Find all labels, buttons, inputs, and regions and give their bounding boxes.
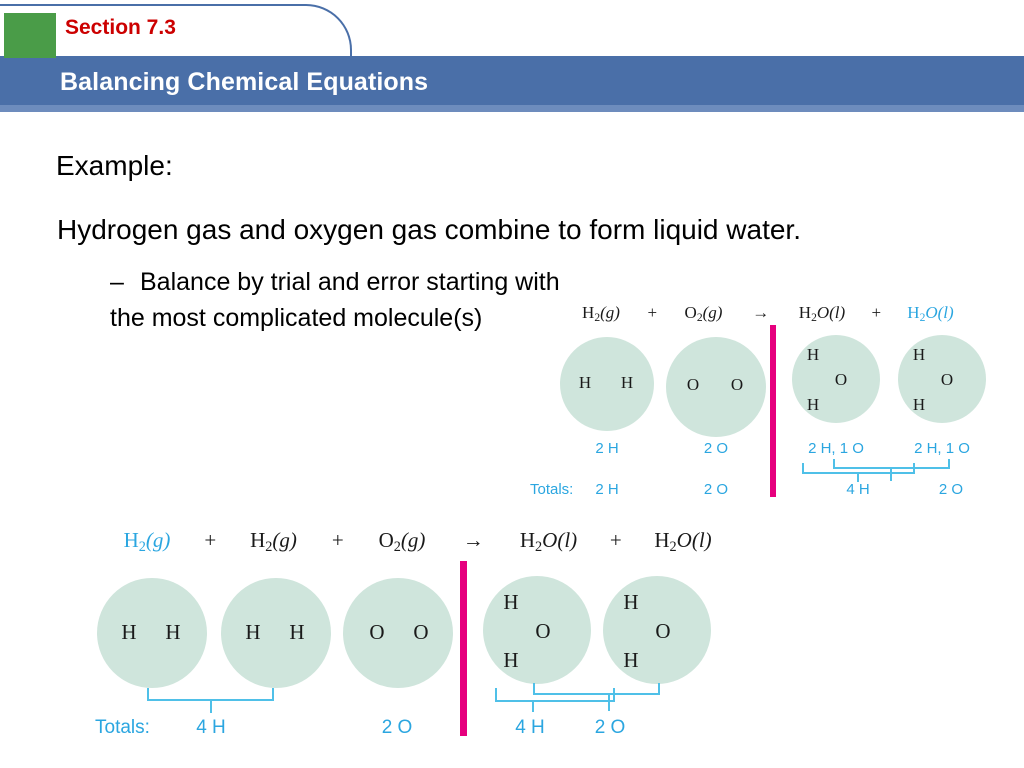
equation-term-h2ol-highlighted: H2O(l)	[902, 303, 960, 324]
state-g: (g)	[272, 528, 297, 552]
state-g: (g)	[146, 528, 171, 552]
state-g: (g)	[600, 303, 620, 322]
atom-h: H	[499, 590, 523, 615]
reaction-arrow-icon: →	[733, 303, 789, 323]
atom-h: H	[499, 648, 523, 673]
state-ol: O(l)	[817, 303, 845, 322]
atom-h: H	[616, 373, 638, 393]
subscript-2: 2	[139, 539, 146, 555]
molecule-h2o: H O H	[792, 335, 880, 423]
equation-row: H2(g) + O2(g) → H2O(l) + H2O(l)	[576, 303, 960, 324]
formula-h: H	[520, 528, 535, 552]
totals-value-hydrogen-right: 4 H	[490, 717, 570, 739]
header-bar-underline	[0, 105, 1024, 112]
reaction-divider-bar	[460, 561, 467, 736]
formula-h: H	[582, 303, 594, 322]
equation-term-o2g: O2(g)	[679, 303, 729, 324]
totals-value-oxygen-right: 2 O	[911, 481, 991, 498]
totals-value-hydrogen-right: 4 H	[818, 481, 898, 498]
atom-o: O	[726, 375, 748, 395]
section-tab-swatch	[4, 13, 56, 58]
equation-term-h2g: H2(g)	[242, 528, 306, 556]
atom-o: O	[830, 370, 852, 390]
molecule-h2: H H	[221, 578, 331, 688]
slide-header: Balancing Chemical Equations Section 7.3	[0, 0, 1024, 112]
atom-o: O	[531, 619, 555, 644]
equation-term-h2ol: H2O(l)	[513, 528, 585, 556]
plus-operator: +	[184, 528, 236, 553]
atom-h: H	[619, 590, 643, 615]
page-title: Balancing Chemical Equations	[60, 68, 428, 97]
atom-h: H	[285, 620, 309, 645]
atom-o: O	[365, 620, 389, 645]
reaction-divider-bar	[770, 325, 776, 497]
plus-operator: +	[590, 528, 642, 553]
totals-value-oxygen-left: 2 O	[357, 717, 437, 739]
state-ol: O(l)	[925, 303, 953, 322]
statement-text: Hydrogen gas and oxygen gas combine to f…	[57, 214, 801, 246]
molecule-count-label: 2 H, 1 O	[894, 440, 990, 457]
molecule-o2: O O	[343, 578, 453, 688]
molecule-count-label: 2 H	[567, 440, 647, 457]
subscript-2: 2	[670, 539, 677, 555]
state-g: (g)	[703, 303, 723, 322]
figure-unbalanced-equation: H2(g) + O2(g) → H2O(l) + H2O(l) H H 2 H …	[530, 303, 1020, 508]
state-ol: O(l)	[677, 528, 712, 552]
section-tab	[0, 4, 352, 56]
molecule-count-label: 2 H, 1 O	[788, 440, 884, 457]
molecule-h2: H H	[560, 337, 654, 431]
totals-value-hydrogen-left: 2 H	[567, 481, 647, 498]
example-label: Example:	[56, 150, 173, 182]
equation-term-h2ol: H2O(l)	[793, 303, 851, 324]
equation-term-o2g: O2(g)	[370, 528, 434, 556]
atom-h: H	[241, 620, 265, 645]
molecule-o2: O O	[666, 337, 766, 437]
atom-o: O	[409, 620, 433, 645]
equation-row: H2(g) + H2(g) + O2(g) → H2O(l) + H2O(l)	[115, 528, 719, 556]
plus-operator: +	[311, 528, 365, 553]
molecule-count-label: 2 O	[676, 440, 756, 457]
section-label: Section 7.3	[65, 16, 176, 40]
atom-h: H	[161, 620, 185, 645]
atom-h: H	[802, 395, 824, 415]
molecule-h2: H H	[97, 578, 207, 688]
formula-h: H	[124, 528, 139, 552]
formula-o: O	[685, 303, 697, 322]
plus-operator: +	[630, 303, 674, 323]
totals-label: Totals:	[95, 717, 150, 739]
reaction-arrow-icon: →	[439, 528, 507, 553]
totals-value-hydrogen-left: 4 H	[171, 717, 251, 739]
formula-h: H	[654, 528, 669, 552]
atom-h: H	[574, 373, 596, 393]
totals-value-oxygen-left: 2 O	[676, 481, 756, 498]
atom-o: O	[682, 375, 704, 395]
atom-h: H	[117, 620, 141, 645]
bullet-item: –Balance by trial and error starting wit…	[110, 264, 580, 336]
molecule-h2o: H O H	[483, 576, 591, 684]
state-ol: O(l)	[542, 528, 577, 552]
molecule-h2o: H O H	[898, 335, 986, 423]
equation-term-h2ol: H2O(l)	[647, 528, 719, 556]
subscript-2: 2	[394, 539, 401, 555]
formula-h: H	[907, 303, 919, 322]
formula-h: H	[250, 528, 265, 552]
plus-operator: +	[855, 303, 897, 323]
atom-h: H	[802, 345, 824, 365]
formula-o: O	[379, 528, 394, 552]
atom-h: H	[908, 345, 930, 365]
figure-balanced-equation: H2(g) + H2(g) + O2(g) → H2O(l) + H2O(l) …	[85, 528, 725, 753]
atom-h: H	[908, 395, 930, 415]
atom-o: O	[936, 370, 958, 390]
atom-o: O	[651, 619, 675, 644]
totals-value-oxygen-right: 2 O	[570, 717, 650, 739]
equation-term-h2g: H2(g)	[576, 303, 626, 324]
equation-term-h2g-highlighted: H2(g)	[115, 528, 179, 556]
state-g: (g)	[401, 528, 426, 552]
bullet-item-label: Balance by trial and error starting with…	[110, 268, 560, 332]
molecule-h2o: H O H	[603, 576, 711, 684]
atom-h: H	[619, 648, 643, 673]
bullet-dash-marker: –	[110, 264, 140, 300]
formula-h: H	[799, 303, 811, 322]
